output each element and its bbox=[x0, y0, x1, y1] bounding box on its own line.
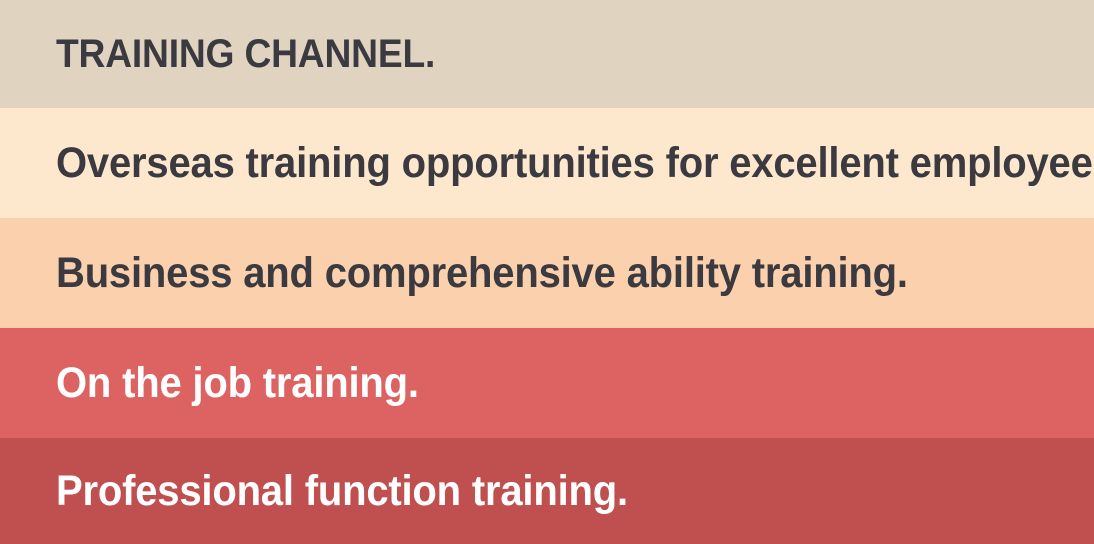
band-label-title: TRAINING CHANNEL. bbox=[56, 34, 435, 74]
band-label-on-the-job-training: On the job training. bbox=[56, 362, 419, 405]
band-label-business-ability-training: Business and comprehensive ability train… bbox=[56, 252, 908, 295]
band-professional-function-training: Professional function training. bbox=[0, 438, 1094, 544]
band-training-channel-title: TRAINING CHANNEL. bbox=[0, 0, 1094, 108]
training-channel-infographic: TRAINING CHANNEL. Overseas training oppo… bbox=[0, 0, 1094, 544]
band-business-ability-training: Business and comprehensive ability train… bbox=[0, 218, 1094, 328]
band-label-professional-function-training: Professional function training. bbox=[56, 470, 628, 513]
band-overseas-training: Overseas training opportunities for exce… bbox=[0, 108, 1094, 218]
band-on-the-job-training: On the job training. bbox=[0, 328, 1094, 438]
band-label-overseas-training: Overseas training opportunities for exce… bbox=[56, 142, 1094, 185]
